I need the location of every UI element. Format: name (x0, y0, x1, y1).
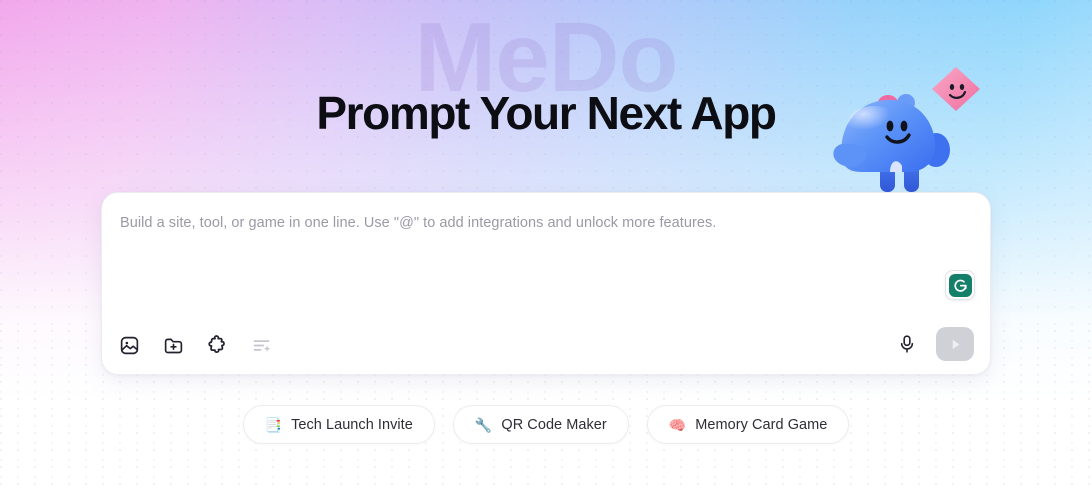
suggestion-chip-label: QR Code Maker (501, 417, 606, 433)
grammarly-icon (949, 274, 972, 297)
mascot-eye-right (901, 121, 908, 132)
prompt-input-card[interactable]: Build a site, tool, or game in one line.… (101, 192, 991, 375)
brain-icon: 🧠 (669, 418, 686, 432)
pink-diamond-character (932, 67, 980, 111)
suggestion-chip-label: Memory Card Game (695, 417, 827, 433)
enhance-prompt-icon[interactable] (250, 334, 272, 356)
mascot-eye-left (887, 121, 894, 132)
image-icon[interactable] (118, 334, 140, 356)
suggestion-chip-tech-launch-invite[interactable]: 📑 Tech Launch Invite (243, 405, 435, 444)
app-stage: MeDo Prompt Your Next App (0, 0, 1092, 488)
puzzle-piece-icon[interactable] (206, 334, 228, 356)
folder-plus-icon[interactable] (162, 334, 184, 356)
prompt-placeholder[interactable]: Build a site, tool, or game in one line.… (120, 215, 716, 231)
microphone-icon[interactable] (896, 333, 918, 355)
wrench-icon: 🔧 (475, 418, 492, 432)
prompt-toolbar-left (118, 334, 272, 356)
suggestion-chip-memory-card-game[interactable]: 🧠 Memory Card Game (647, 405, 850, 444)
send-button[interactable] (936, 327, 974, 361)
prompt-toolbar-right (896, 327, 974, 361)
document-icon: 📑 (265, 418, 282, 432)
suggestion-chips: 📑 Tech Launch Invite 🔧 QR Code Maker 🧠 M… (0, 405, 1092, 444)
mascot-illustration (828, 62, 988, 197)
grammarly-badge[interactable] (945, 270, 975, 300)
suggestion-chip-qr-code-maker[interactable]: 🔧 QR Code Maker (453, 405, 629, 444)
suggestion-chip-label: Tech Launch Invite (291, 417, 413, 433)
